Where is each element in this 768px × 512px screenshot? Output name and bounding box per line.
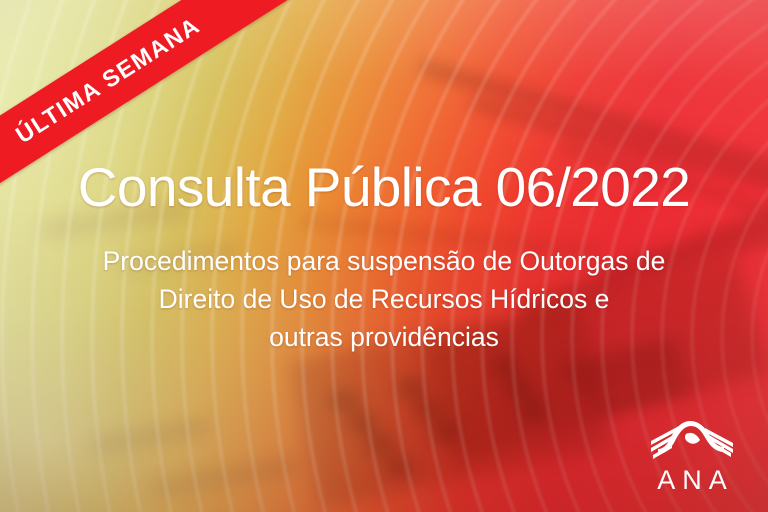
banner-text-block: Consulta Pública 06/2022 Procedimentos p… [0,158,768,356]
ana-wave-icon [650,415,734,463]
subtitle-line-3: outras providências [64,319,704,357]
ana-logo-text: ANA [650,467,734,494]
subtitle-line-1: Procedimentos para suspensão de Outorgas… [64,243,704,281]
ana-logo: ANA [638,415,746,494]
page-subtitle: Procedimentos para suspensão de Outorgas… [64,243,704,356]
subtitle-line-2: Direito de Uso de Recursos Hídricos e [64,281,704,319]
page-title: Consulta Pública 06/2022 [28,158,740,217]
consulta-publica-banner: ÚLTIMA SEMANA Consulta Pública 06/2022 P… [0,0,768,512]
